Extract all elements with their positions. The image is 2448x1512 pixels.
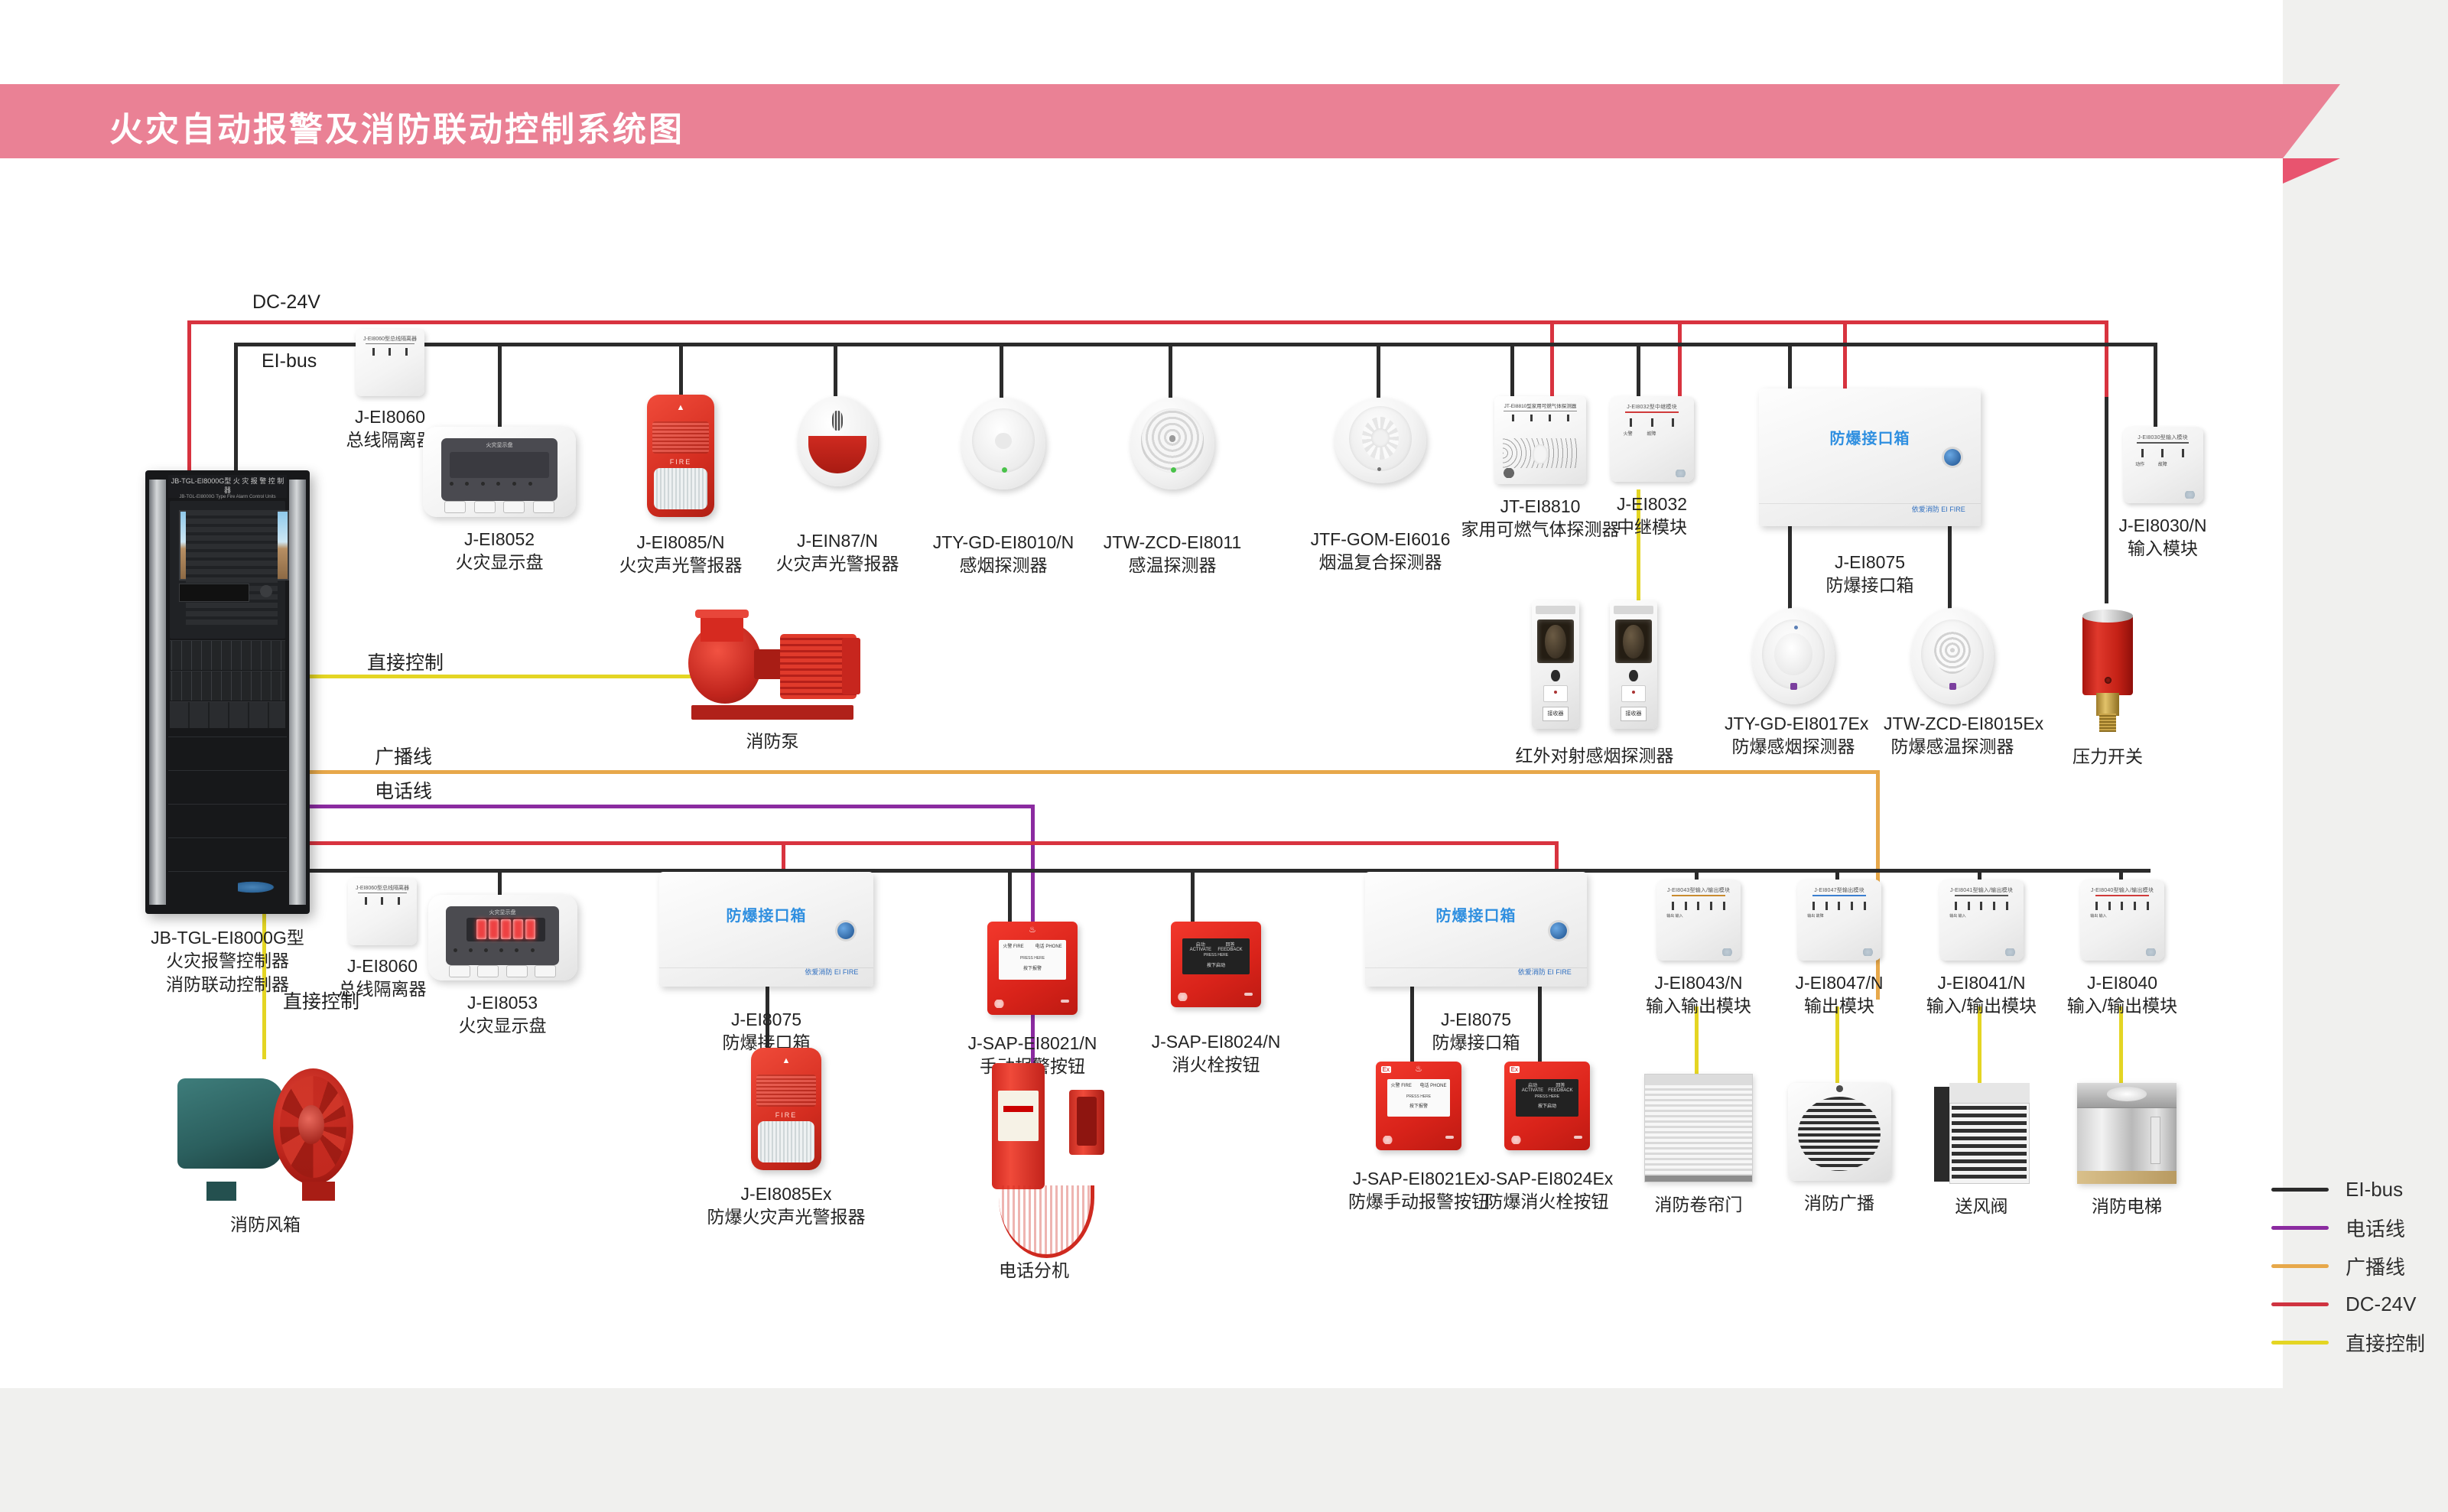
wire-eibus-drop-input8030 <box>2154 343 2157 427</box>
exbox-inner-label: 防爆接口箱 <box>659 903 873 925</box>
callpoint-led-label-2: 电话 PHONE <box>1419 1081 1446 1088</box>
wire-label-direct-top: 直接控制 <box>367 648 444 675</box>
callpoint-led-label-2: 电话 PHONE <box>1035 942 1062 949</box>
beam-tag-label: 接收器 <box>1543 707 1569 721</box>
callpoint-key-slot[interactable] <box>1445 1136 1454 1139</box>
device-model-label: J-EI8040 <box>2065 971 2180 994</box>
wire-eibus-left-riser <box>234 343 238 492</box>
legend-label-direct: 直接控制 <box>2346 1328 2425 1357</box>
device-model-label: J-EI8047/N <box>1782 971 1897 994</box>
device-name-label: 火灾显示盘 <box>423 551 576 574</box>
exbox-inner-label: 防爆接口箱 <box>1759 426 1981 448</box>
device-relay-module-8032[interactable]: J-EI8032型中继模块 火警 故障 J-EI8032 中继模块 <box>1591 396 1713 539</box>
callpoint-push-text: 按下报警 <box>999 964 1065 971</box>
hydrant-key-slot[interactable] <box>1244 993 1253 996</box>
panel-screen <box>450 452 550 478</box>
beam-smoke-detector-icon: 接收器 <box>1532 600 1579 729</box>
wire-dc24v-left-riser <box>187 320 191 490</box>
legend-swatch-eibus <box>2271 1188 2329 1192</box>
cabinet-rail-left <box>149 480 166 905</box>
device-model-label: JTW-ZCD-EI8011 <box>1096 531 1249 554</box>
bus-isolator-icon: J-EI8060型总线隔离器 <box>356 329 424 396</box>
gas-detector-icon: JT-EI8810型家用可燃气体探测器 <box>1494 396 1586 484</box>
device-name-label: 电话分机 <box>935 1259 1133 1282</box>
device-ex-smoke-detector-8017[interactable]: JTY-GD-EI8017Ex 防爆感烟探测器 <box>1725 608 1862 759</box>
device-name-label: 防爆手动报警按钮 <box>1346 1190 1491 1213</box>
callpoint-push-text: 按下报警 <box>1387 1102 1451 1109</box>
ex-heat-detector-led <box>1949 683 1956 690</box>
device-name-label: 火灾声光警报器 <box>608 554 753 577</box>
panel-inner-title: 火灾显示盘 <box>441 441 558 449</box>
callpoint-led-label-1: 火警 FIRE <box>1003 942 1023 949</box>
cabinet-switch-strip[interactable] <box>170 701 285 728</box>
isolator-inner-label: J-EI8060型总线隔离器 <box>356 335 424 343</box>
device-name-label: 消火栓按钮 <box>1139 1053 1292 1076</box>
device-model-label: J-EI8085/N <box>608 531 753 554</box>
device-model-label: J-EI8032 <box>1591 493 1713 515</box>
device-model-label: J-SAP-EI8024/N <box>1139 1030 1292 1053</box>
device-hydrant-button-8024[interactable]: 启动 ACTIVATE 回答 FEEDBACK PRESS HERE 按下启动 … <box>1139 922 1292 1077</box>
device-name-label: 火灾声光警报器 <box>765 552 910 575</box>
device-fire-speaker[interactable]: 消防广播 <box>1782 1083 1897 1214</box>
cabinet-panel-seam-5 <box>168 871 287 872</box>
cabinet-panel-seam-1 <box>168 736 287 737</box>
sounder-fire-text: FIRE <box>751 1111 821 1119</box>
smoke-detector-icon <box>961 398 1045 489</box>
sounder-strobe-lens <box>758 1121 814 1162</box>
device-ex-heat-detector-8015[interactable]: JTW-ZCD-EI8015Ex 防爆感温探测器 <box>1884 608 2021 759</box>
hydrant-brand-logo <box>1178 993 1190 1001</box>
panel-buttons[interactable] <box>444 501 554 513</box>
device-name-label: 消防卷帘门 <box>1641 1193 1756 1216</box>
wire-dc24v-bottom-horizontal <box>275 841 1559 845</box>
module-led-label-1: 动作 <box>2135 460 2144 467</box>
exbox-lock-knob[interactable] <box>837 922 854 939</box>
wire-eibus-drop-panel8052 <box>498 343 502 427</box>
device-name-label: 输入/输出模块 <box>2065 994 2180 1017</box>
fire-elevator-icon <box>2077 1083 2177 1184</box>
legend: EI-bus 电话线 广播线 DC-24V 直接控制 <box>2271 1170 2425 1361</box>
callpoint-fire-symbol: ♨ <box>1376 1064 1461 1074</box>
device-explosion-proof-box-bottom-1[interactable]: 防爆接口箱 依爱消防 EI FIRE J-EI8075 防爆接口箱 <box>659 872 873 1055</box>
sounder-brand-logo: ▲ <box>751 1056 821 1065</box>
wire-label-broadcast: 广播线 <box>375 742 432 769</box>
wire-eibus-drop-combined <box>1377 343 1380 398</box>
device-input-module-8030[interactable]: J-EI8030型输入模块 动作 故障 J-EI8030/N 输入模块 <box>2102 427 2224 561</box>
legend-swatch-broadcast <box>2271 1264 2329 1268</box>
exbox-lock-knob[interactable] <box>1550 922 1567 939</box>
fire-pump-icon <box>681 609 864 722</box>
device-model-label: J-SAP-EI8021/N <box>956 1032 1109 1055</box>
device-model-label: JTW-ZCD-EI8015Ex <box>1884 712 2021 735</box>
wire-direct-io8040-elevator <box>2119 1006 2123 1083</box>
device-model-label: JTY-GD-EI8010/N <box>927 531 1080 554</box>
module-led-label-2: 故障 <box>1647 430 1656 437</box>
io-module-icon: J-EI8041型输入/输出模块 输出 输入 <box>1939 880 2024 961</box>
cabinet-jog-knob[interactable] <box>260 585 272 597</box>
hydrant-push-text: 按下启动 <box>1516 1102 1579 1109</box>
wire-eibus-top-horizontal <box>234 343 2154 346</box>
device-heat-detector-8011[interactable]: JTW-ZCD-EI8011 感温探测器 <box>1096 398 1249 577</box>
banner-fold-top <box>2283 84 2340 158</box>
hydrant-button-icon[interactable]: 启动 ACTIVATE 回答 FEEDBACK PRESS HERE 按下启动 <box>1171 922 1261 1007</box>
legend-row: EI-bus <box>2271 1170 2425 1208</box>
cabinet-rail-right <box>289 480 306 905</box>
hydrant-press-text: PRESS HERE <box>1182 953 1249 958</box>
wire-eibus-drop-smoke <box>1000 343 1003 398</box>
module-brand-logo <box>2005 948 2017 956</box>
device-telephone-handset[interactable]: 电话分机 <box>935 1063 1133 1282</box>
io-module-icon: J-EI8040型输入/输出模块 输出 输入 <box>2080 880 2164 961</box>
device-model-label: J-EI8060 <box>314 405 467 428</box>
device-io-module-8041[interactable]: J-EI8041型输入/输出模块 输出 输入 J-EI8041/N 输入/输出模… <box>1924 880 2039 1018</box>
device-fire-fan[interactable]: 消防风箱 <box>170 1055 361 1236</box>
device-name-label: 防爆火灾声光警报器 <box>694 1205 878 1228</box>
ex-tag-label: Ex <box>1510 1066 1520 1073</box>
hydrant-led-label-1: 启动 ACTIVATE <box>1520 1081 1546 1093</box>
wire-broadcast-horizontal <box>304 770 1880 774</box>
explosion-proof-box-icon: 防爆接口箱 依爱消防 EI FIRE <box>1365 872 1587 987</box>
controller-name-line3: 消防联动控制器 <box>145 973 310 996</box>
device-model-label: J-SAP-EI8021Ex <box>1346 1167 1491 1190</box>
cabinet-panel-seam-3 <box>168 804 287 805</box>
device-beam-smoke-detector[interactable]: 接收器 接收器 红外对射感烟探测器 <box>1484 600 1705 767</box>
callpoint-led-label-1: 火警 FIRE <box>1391 1081 1412 1088</box>
module-inner-label: J-EI8047型输出模块 <box>1797 886 1881 894</box>
device-name-label: 防爆接口箱 <box>1759 574 1981 597</box>
legend-swatch-direct <box>2271 1341 2329 1345</box>
wire-dc24v-drop-exbox <box>1843 320 1847 389</box>
exbox-lock-knob[interactable] <box>1944 449 1961 466</box>
device-model-label: J-EI8041/N <box>1924 971 2039 994</box>
wire-dc24v-right-drop <box>2105 320 2108 397</box>
panel-buttons[interactable] <box>449 965 556 977</box>
legend-row: 电话线 <box>2271 1208 2425 1247</box>
hydrant-key-slot[interactable] <box>1574 1136 1582 1139</box>
ex-smoke-detector-icon <box>1752 608 1835 704</box>
output-module-icon: J-EI8047型输出模块 输出 故障 <box>1797 880 1881 961</box>
legend-swatch-telephone <box>2271 1226 2329 1230</box>
device-name-label: 输入模块 <box>2102 537 2224 560</box>
legend-row: 广播线 <box>2271 1247 2425 1285</box>
callpoint-key-slot[interactable] <box>1061 1000 1069 1003</box>
beam-smoke-detector-icon-2: 接收器 <box>1610 600 1657 729</box>
callpoint-press-text: PRESS HERE <box>1387 1094 1451 1099</box>
fire-display-panel-icon: 火灾显示盘 <box>423 427 576 517</box>
exbox-brand-logo: 依爱消防 EI FIRE <box>1518 969 1572 977</box>
module-led-label-1: 火警 <box>1624 430 1633 437</box>
smoke-detector-logo <box>995 433 1012 450</box>
device-name-label: 防爆感烟探测器 <box>1725 735 1862 758</box>
module-inner-label: J-EI8040型输入/输出模块 <box>2080 886 2164 894</box>
bus-isolator-icon: J-EI8060型总线隔离器 <box>348 878 417 945</box>
wire-telephone-horizontal <box>291 805 1035 808</box>
legend-row: DC-24V <box>2271 1285 2425 1323</box>
device-fire-alarm-controller[interactable]: JB-TGL-EI8000G型 火 灾 报 警 控 制 器 JB-TGL-EI8… <box>145 470 310 996</box>
cabinet-panel-seam-2 <box>168 770 287 771</box>
hydrant-brand-logo <box>1511 1136 1523 1144</box>
controller-name-line2: 火灾报警控制器 <box>145 949 310 972</box>
sounder-strobe-lens <box>654 468 707 509</box>
legend-row: 直接控制 <box>2271 1323 2425 1361</box>
device-model-label: J-EIN87/N <box>765 529 910 552</box>
cabinet-main-bay <box>170 501 285 639</box>
wire-eibus-drop-sounder8085 <box>679 343 683 395</box>
callpoint-brand-logo <box>994 1000 1006 1008</box>
device-fire-display-panel-8052[interactable]: 火灾显示盘 J-EI8052 火灾显示盘 <box>423 427 576 574</box>
wire-dc24v-drop-relay <box>1678 320 1682 397</box>
banner-fold-bottom <box>2283 158 2340 184</box>
wire-eibus-drop-sounder87 <box>834 343 837 396</box>
device-explosion-proof-box-top[interactable]: 防爆接口箱 依爱消防 EI FIRE J-EI8075 防爆接口箱 <box>1759 389 1981 597</box>
device-io-module-8043[interactable]: J-EI8043型输入/输出模块 输出 输入 J-EI8043/N 输入输出模块 <box>1641 880 1756 1018</box>
device-model-label: JTY-GD-EI8017Ex <box>1725 712 1862 735</box>
cabinet-faceplate-label: JB-TGL-EI8000G型 火 灾 报 警 控 制 器 JB-TGL-EI8… <box>168 475 287 498</box>
device-name-label: 消防广播 <box>1782 1192 1897 1214</box>
module-inner-label: J-EI8030型输入模块 <box>2123 434 2203 441</box>
callpoint-fire-symbol: ♨ <box>987 925 1078 935</box>
cabinet-keypad[interactable] <box>186 510 278 625</box>
exbox-brand-logo: 依爱消防 EI FIRE <box>1912 506 1965 514</box>
wire-eibus-bottom-horizontal <box>256 869 2151 873</box>
telephone-handset-icon <box>946 1063 1122 1254</box>
device-model-label: J-SAP-EI8024Ex <box>1474 1167 1620 1190</box>
cabinet-led-strip-2 <box>170 671 285 701</box>
ex-sounder-strobe-icon: ▲ FIRE <box>751 1048 821 1170</box>
page-title: 火灾自动报警及消防联动控制系统图 <box>109 102 684 151</box>
device-model-label: J-EI8075 <box>659 1008 873 1031</box>
device-name-label: 感烟探测器 <box>927 554 1080 577</box>
device-ex-sounder-strobe-8085[interactable]: ▲ FIRE J-EI8085Ex 防爆火灾声光警报器 <box>694 1048 878 1229</box>
device-air-supply-valve[interactable]: 送风阀 <box>1924 1083 2039 1218</box>
cabinet-panel-seam-4 <box>168 837 287 838</box>
device-sounder-strobe-8085[interactable]: ▲ FIRE J-EI8085/N 火灾声光警报器 <box>608 395 753 577</box>
wire-label-dc24v: DC-24V <box>252 291 320 314</box>
device-name-label: 输出模块 <box>1782 994 1897 1017</box>
wire-eibus-drop-callpoint8021 <box>1008 869 1012 922</box>
device-manual-call-point-8021[interactable]: ♨ 火警 FIRE 电话 PHONE PRESS HERE 按下报警 J-SAP… <box>956 922 1109 1078</box>
device-fire-pump[interactable]: 消防泵 <box>673 609 872 753</box>
cabinet-printer-slot[interactable] <box>179 584 249 602</box>
callpoint-brand-logo <box>1383 1136 1395 1144</box>
device-name-label: 烟温复合探测器 <box>1300 551 1461 574</box>
gas-detector-inner-label: JT-EI8810型家用可燃气体探测器 <box>1494 402 1586 409</box>
wire-label-eibus: EI-bus <box>262 350 317 372</box>
device-io-module-8040[interactable]: J-EI8040型输入/输出模块 输出 输入 J-EI8040 输入/输出模块 <box>2065 880 2180 1018</box>
led-display-panel-icon: 火灾显示盘 <box>428 895 577 980</box>
hydrant-led-label-2: 回答 FEEDBACK <box>1214 941 1245 952</box>
controller-model-label: JB-TGL-EI8000G型 <box>145 926 310 949</box>
device-name-label: 输入/输出模块 <box>1924 994 2039 1017</box>
device-name-label: 防爆接口箱 <box>1365 1031 1587 1054</box>
device-fire-elevator[interactable]: 消防电梯 <box>2069 1083 2184 1218</box>
device-name-label: 防爆感温探测器 <box>1884 735 2021 758</box>
module-inner-label: J-EI8043型输入/输出模块 <box>1656 886 1741 894</box>
ex-smoke-detector-led <box>1790 683 1797 690</box>
wire-direct-io8041-valve <box>1978 1006 1981 1083</box>
device-model-label: JTF-GOM-EI6016 <box>1300 528 1461 551</box>
hydrant-led-label-2: 回答 FEEDBACK <box>1546 1081 1575 1093</box>
fire-speaker-icon <box>1788 1083 1891 1181</box>
legend-swatch-dc24v <box>2271 1302 2329 1306</box>
ex-heat-detector-icon <box>1911 608 1994 704</box>
device-ex-manual-call-point-8021[interactable]: Ex ♨ 火警 FIRE 电话 PHONE PRESS HERE 按下报警 J-… <box>1346 1062 1491 1214</box>
wire-eibus-drop-hydrant8024 <box>1191 869 1195 922</box>
hydrant-led-label-1: 启动 ACTIVATE <box>1186 941 1214 952</box>
device-smoke-detector-8010[interactable]: JTY-GD-EI8010/N 感烟探测器 <box>927 398 1080 577</box>
manual-call-point-icon[interactable]: ♨ 火警 FIRE 电话 PHONE PRESS HERE 按下报警 <box>987 922 1078 1015</box>
explosion-proof-box-icon: 防爆接口箱 依爱消防 EI FIRE <box>659 872 873 987</box>
device-round-sounder-87[interactable]: J-EIN87/N 火灾声光警报器 <box>765 396 910 576</box>
beam-tag-label-2: 接收器 <box>1621 707 1647 721</box>
device-name-label: 中继模块 <box>1591 515 1713 538</box>
device-model-label: J-EI8043/N <box>1641 971 1756 994</box>
wire-dc24v-drop-gas <box>1550 320 1554 397</box>
device-model-label: J-EI8075 <box>1365 1008 1587 1031</box>
wire-label-telephone: 电话线 <box>375 776 432 804</box>
device-model-label: J-EI8030/N <box>2102 514 2224 537</box>
module-inner-label: J-EI8032型中继模块 <box>1610 403 1694 411</box>
device-name-label: 输入输出模块 <box>1641 994 1756 1017</box>
module-brand-logo <box>1676 470 1688 477</box>
device-pressure-switch[interactable]: 压力开关 <box>2054 604 2161 768</box>
module-led-label-2: 故障 <box>2158 460 2167 467</box>
sounder-brand-logo: ▲ <box>647 403 714 412</box>
isolator-inner-label: J-EI8060型总线隔离器 <box>348 884 417 892</box>
legend-label-broadcast: 广播线 <box>2346 1252 2405 1280</box>
device-model-label: J-EI8085Ex <box>694 1182 878 1205</box>
panel-led-digits <box>467 918 546 941</box>
roller-shutter-icon <box>1644 1074 1753 1182</box>
cabinet-brand-logo <box>238 880 279 894</box>
ex-manual-call-point-icon[interactable]: Ex ♨ 火警 FIRE 电话 PHONE PRESS HERE 按下报警 <box>1376 1062 1461 1150</box>
device-name-label: 红外对射感烟探测器 <box>1484 744 1705 767</box>
device-roller-shutter[interactable]: 消防卷帘门 <box>1641 1074 1756 1216</box>
wire-direct-out8047-speaker <box>1835 1006 1839 1083</box>
device-led-display-panel-8053[interactable]: 火灾显示盘 J-EI8053 火灾显示盘 <box>426 895 579 1038</box>
relay-module-icon: J-EI8032型中继模块 火警 故障 <box>1610 396 1694 482</box>
device-combined-detector-6016[interactable]: JTF-GOM-EI6016 烟温复合探测器 <box>1300 398 1461 574</box>
wire-dc24v-drop-exbox-b1 <box>782 841 785 872</box>
cabinet-led-strip-1 <box>170 640 285 670</box>
panel-inner-title: 火灾显示盘 <box>446 909 559 916</box>
air-supply-valve-icon <box>1934 1083 2030 1184</box>
device-model-label: J-EI8053 <box>426 991 579 1014</box>
pressure-switch-icon <box>2074 604 2141 734</box>
hydrant-press-text: PRESS HERE <box>1516 1094 1579 1099</box>
module-brand-logo <box>1863 948 1875 956</box>
wire-eibus-drop-heat <box>1169 343 1172 398</box>
module-inner-label: J-EI8041型输入/输出模块 <box>1939 886 2024 894</box>
heat-detector-icon <box>1130 398 1214 489</box>
wire-eibus-drop-gas <box>1510 343 1514 396</box>
device-explosion-proof-box-bottom-2[interactable]: 防爆接口箱 依爱消防 EI FIRE J-EI8075 防爆接口箱 <box>1365 872 1587 1055</box>
fire-fan-icon <box>174 1055 357 1201</box>
device-ex-hydrant-button-8024[interactable]: Ex 启动 ACTIVATE 回答 FEEDBACK PRESS HERE 按下… <box>1474 1062 1620 1214</box>
module-brand-logo <box>2146 948 2158 956</box>
io-module-icon: J-EI8043型输入/输出模块 输出 输入 <box>1656 880 1741 961</box>
module-brand-logo <box>1722 948 1734 956</box>
legend-label-dc24v: DC-24V <box>2346 1293 2416 1316</box>
exbox-brand-logo: 依爱消防 EI FIRE <box>805 969 858 977</box>
ex-hydrant-button-icon[interactable]: Ex 启动 ACTIVATE 回答 FEEDBACK PRESS HERE 按下… <box>1504 1062 1590 1150</box>
exbox-inner-label: 防爆接口箱 <box>1365 903 1587 925</box>
legend-label-telephone: 电话线 <box>2346 1214 2405 1242</box>
device-name-label: 消防泵 <box>673 730 872 753</box>
device-name-label: 火灾显示盘 <box>426 1014 579 1037</box>
callpoint-press-text: PRESS HERE <box>999 956 1065 961</box>
device-name-label: 防爆消火栓按钮 <box>1474 1190 1620 1213</box>
device-name-label: 感温探测器 <box>1096 554 1249 577</box>
legend-label-eibus: EI-bus <box>2346 1178 2403 1201</box>
explosion-proof-box-icon: 防爆接口箱 依爱消防 EI FIRE <box>1759 389 1981 526</box>
combined-detector-icon <box>1335 398 1426 483</box>
device-model-label: J-EI8052 <box>423 528 576 551</box>
wire-eibus-drop-exbox-top <box>1788 343 1792 390</box>
device-model-label: J-EI8075 <box>1759 551 1981 574</box>
sounder-strobe-icon: ▲ FIRE <box>647 395 714 517</box>
module-brand-logo <box>2185 491 2197 499</box>
device-name-label: 消防风箱 <box>170 1213 361 1236</box>
sounder-fire-text: FIRE <box>647 458 714 466</box>
gas-detector-brand-logo <box>1503 468 1518 478</box>
round-sounder-icon <box>798 396 878 486</box>
wire-dc24v-drop-exbox-b2 <box>1555 841 1559 872</box>
device-name-label: 送风阀 <box>1924 1195 2039 1218</box>
wire-eibus-drop-relay <box>1637 343 1640 396</box>
device-name-label: 压力开关 <box>2054 745 2161 768</box>
device-output-module-8047[interactable]: J-EI8047型输出模块 输出 故障 J-EI8047/N 输出模块 <box>1782 880 1897 1018</box>
hydrant-push-text: 按下启动 <box>1182 961 1249 968</box>
input-module-icon: J-EI8030型输入模块 动作 故障 <box>2123 427 2203 503</box>
device-name-label: 消防电梯 <box>2069 1195 2184 1218</box>
wire-dc24v-top-horizontal <box>187 320 2108 324</box>
